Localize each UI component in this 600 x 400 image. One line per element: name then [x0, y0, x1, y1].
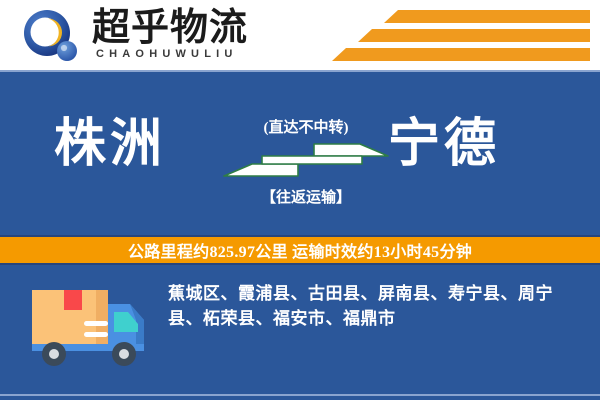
brand-name-cn: 超乎物流 — [92, 8, 248, 48]
route-row: 株洲 (直达不中转) 【往返运输】 宁德 — [0, 96, 600, 216]
orange-speed-stripes-icon — [330, 8, 590, 66]
round-trip-note: 【往返运输】 — [228, 186, 384, 207]
logistics-route-banner: 超乎物流 CHAOHUWULIU 株洲 (直达不中转) — [0, 0, 600, 400]
stripe-3 — [332, 48, 590, 61]
route-info-bar: 公路里程约825.97公里 运输时效约13小时45分钟 — [0, 235, 600, 265]
stripe-1 — [384, 10, 590, 23]
distance-and-duration-text: 公路里程约825.97公里 运输时效约13小时45分钟 — [128, 238, 472, 262]
stripe-2 — [358, 29, 590, 42]
banner-header: 超乎物流 CHAOHUWULIU — [0, 0, 600, 72]
direct-shipping-note: (直达不中转) — [228, 116, 384, 137]
delivery-truck-icon — [26, 278, 156, 373]
panel-bottom-hairline — [0, 394, 600, 396]
route-middle-block: (直达不中转) 【往返运输】 — [228, 96, 384, 216]
panel-top-hairline — [0, 70, 600, 72]
circle-crescent-logo-icon — [22, 9, 80, 65]
brand-name-en: CHAOHUWULIU — [96, 48, 238, 60]
origin-city: 株洲 — [54, 114, 166, 176]
double-headed-arrow-icon — [222, 142, 390, 178]
coverage-districts-text: 蕉城区、霞浦县、古田县、屏南县、寿宁县、周宁县、柘荣县、福安市、福鼎市 — [168, 281, 582, 331]
destination-city: 宁德 — [388, 114, 500, 176]
